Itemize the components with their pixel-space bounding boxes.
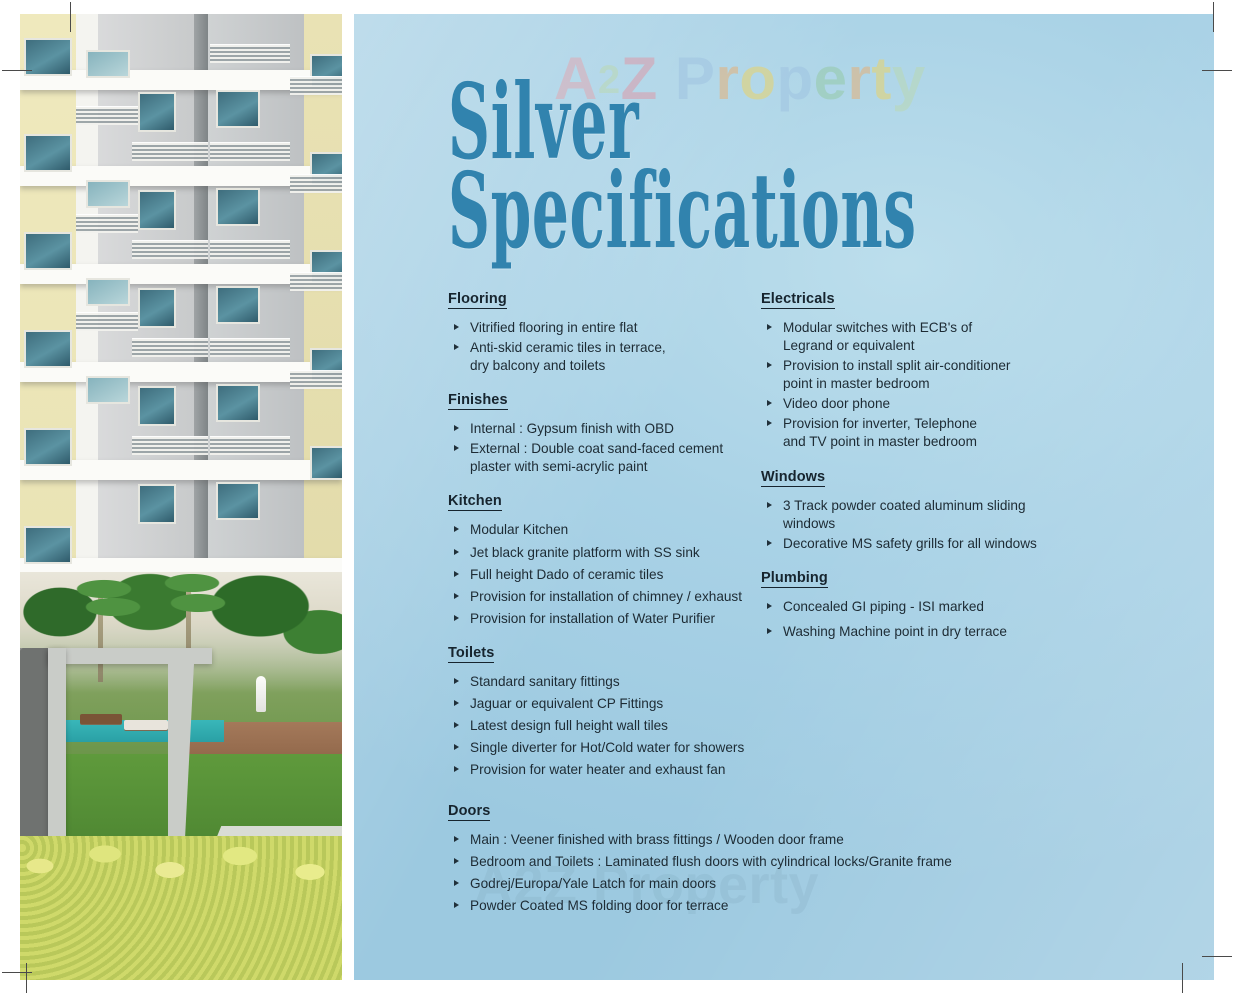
bullet-triangle-icon [767, 603, 772, 609]
spec-item-text: Washing Machine point in dry terrace [783, 624, 1007, 639]
bullet-triangle-icon [454, 324, 459, 330]
spec-item-text: Anti-skid ceramic tiles in terrace,dry b… [470, 340, 666, 373]
spec-item-text: Provision for installation of Water Puri… [470, 611, 715, 626]
spec-item-text: Latest design full height wall tiles [470, 718, 668, 733]
bullet-triangle-icon [454, 425, 459, 431]
spec-list: Vitrified flooring in entire flatAnti-sk… [448, 319, 778, 375]
spec-list-item: Provision for installation of chimney / … [448, 588, 778, 606]
bullet-triangle-icon [454, 549, 459, 555]
spec-list-item: Modular Kitchen [448, 521, 778, 539]
crop-mark-top-right-v [1213, 2, 1214, 32]
spec-item-text: Concealed GI piping - ISI marked [783, 599, 984, 614]
spec-list-item: Godrej/Europa/Yale Latch for main doors [448, 875, 1168, 893]
bullet-triangle-icon [454, 700, 459, 706]
spec-item-text: Jaguar or equivalent CP Fittings [470, 696, 663, 711]
spec-list-item: Powder Coated MS folding door for terrac… [448, 897, 1168, 915]
spec-item-text: Powder Coated MS folding door for terrac… [470, 898, 728, 913]
spec-item-text: Vitrified flooring in entire flat [470, 320, 638, 335]
spec-list-item: Jet black granite platform with SS sink [448, 544, 778, 562]
spec-list-item: Standard sanitary fittings [448, 673, 778, 691]
bullet-triangle-icon [454, 615, 459, 621]
section-heading: Doors [448, 803, 490, 821]
spec-list: Concealed GI piping - ISI markedWashing … [761, 598, 1121, 641]
spec-list: Standard sanitary fittingsJaguar or equi… [448, 673, 778, 779]
bullet-triangle-icon [767, 540, 772, 546]
right-column: ElectricalsModular switches with ECB's o… [761, 290, 1121, 657]
bullet-triangle-icon [767, 502, 772, 508]
spec-item-text: Video door phone [783, 396, 890, 411]
bullet-triangle-icon [767, 420, 772, 426]
spec-item-text: Main : Veener finished with brass fittin… [470, 832, 844, 847]
spec-item-text: Decorative MS safety grills for all wind… [783, 536, 1037, 551]
spec-item-text: Provision to install split air-condition… [783, 358, 1010, 391]
spec-list-item: Main : Veener finished with brass fittin… [448, 831, 1168, 849]
crop-mark-bottom-left-h [2, 972, 32, 973]
spec-list: Internal : Gypsum finish with OBDExterna… [448, 420, 778, 476]
section-heading: Kitchen [448, 493, 502, 511]
bullet-triangle-icon [454, 880, 459, 886]
spec-list-item: Single diverter for Hot/Cold water for s… [448, 739, 778, 757]
bullet-triangle-icon [454, 571, 459, 577]
spec-section: PlumbingConcealed GI piping - ISI marked… [761, 569, 1121, 641]
spec-item-text: Jet black granite platform with SS sink [470, 545, 700, 560]
bullet-triangle-icon [767, 628, 772, 634]
spec-list: Modular switches with ECB's ofLegrand or… [761, 319, 1121, 452]
spec-list: Modular KitchenJet black granite platfor… [448, 521, 778, 627]
spec-section: Windows3 Track powder coated aluminum sl… [761, 468, 1121, 553]
spec-list-item: Modular switches with ECB's ofLegrand or… [761, 319, 1121, 355]
spec-item-text: Bedroom and Toilets : Laminated flush do… [470, 854, 952, 869]
section-heading: Flooring [448, 291, 507, 309]
bullet-triangle-icon [454, 344, 459, 350]
spec-item-text: Provision for water heater and exhaust f… [470, 762, 725, 777]
full-width-column: DoorsMain : Veener finished with brass f… [448, 802, 1168, 931]
spec-list-item: External : Double coat sand-faced cement… [448, 440, 778, 476]
spec-item-text: Full height Dado of ceramic tiles [470, 567, 663, 582]
spec-item-text: Modular Kitchen [470, 522, 568, 537]
crop-mark-bottom-left-v [26, 963, 27, 993]
spec-item-text: Provision for inverter, Telephoneand TV … [783, 416, 977, 449]
crop-mark-top-left-h [2, 70, 32, 71]
bullet-triangle-icon [454, 722, 459, 728]
spec-list-item: Bedroom and Toilets : Laminated flush do… [448, 853, 1168, 871]
project-photograph [20, 14, 342, 980]
specifications-panel: A2Z Property A2Z Property Silver Specifi… [354, 14, 1214, 980]
section-heading: Toilets [448, 645, 494, 663]
bullet-triangle-icon [454, 678, 459, 684]
left-column: FlooringVitrified flooring in entire fla… [448, 290, 778, 795]
section-heading: Plumbing [761, 570, 828, 588]
spec-list-item: Jaguar or equivalent CP Fittings [448, 695, 778, 713]
spec-item-text: External : Double coat sand-faced cement… [470, 441, 723, 474]
title-line-2: Specifications [448, 169, 917, 252]
spec-item-text: Single diverter for Hot/Cold water for s… [470, 740, 744, 755]
spec-list-item: Internal : Gypsum finish with OBD [448, 420, 778, 438]
crop-mark-bottom-right-h [1202, 956, 1232, 957]
crop-mark-top-right-h [1202, 70, 1232, 71]
spec-list-item: Full height Dado of ceramic tiles [448, 566, 778, 584]
spec-item-text: Internal : Gypsum finish with OBD [470, 421, 674, 436]
spec-section: ElectricalsModular switches with ECB's o… [761, 290, 1121, 452]
spec-list-item: Vitrified flooring in entire flat [448, 319, 778, 337]
spec-list-item: Provision to install split air-condition… [761, 357, 1121, 393]
spec-section: ToiletsStandard sanitary fittingsJaguar … [448, 644, 778, 779]
bullet-triangle-icon [454, 445, 459, 451]
spec-list-item: Washing Machine point in dry terrace [761, 623, 1121, 641]
bullet-triangle-icon [767, 362, 772, 368]
spec-section: FlooringVitrified flooring in entire fla… [448, 290, 778, 375]
spec-list-item: Provision for water heater and exhaust f… [448, 761, 778, 779]
spec-list-item: Provision for installation of Water Puri… [448, 610, 778, 628]
spec-list-item: Latest design full height wall tiles [448, 717, 778, 735]
section-heading: Electricals [761, 291, 835, 309]
spec-item-text: 3 Track powder coated aluminum slidingwi… [783, 498, 1026, 531]
spec-item-text: Godrej/Europa/Yale Latch for main doors [470, 876, 716, 891]
garden-landscape-image [20, 572, 342, 980]
section-heading: Windows [761, 469, 825, 487]
bullet-triangle-icon [454, 526, 459, 532]
spec-list-item: Video door phone [761, 395, 1121, 413]
spec-section: FinishesInternal : Gypsum finish with OB… [448, 391, 778, 476]
bullet-triangle-icon [454, 744, 459, 750]
crop-mark-bottom-right-v [1182, 963, 1183, 993]
crop-mark-top-left-v [70, 2, 71, 32]
spec-list-item: Anti-skid ceramic tiles in terrace,dry b… [448, 339, 778, 375]
bullet-triangle-icon [454, 836, 459, 842]
spec-list-item: 3 Track powder coated aluminum slidingwi… [761, 497, 1121, 533]
spec-list: Main : Veener finished with brass fittin… [448, 831, 1168, 915]
spec-section: KitchenModular KitchenJet black granite … [448, 492, 778, 627]
bullet-triangle-icon [454, 766, 459, 772]
bullet-triangle-icon [454, 858, 459, 864]
spec-item-text: Modular switches with ECB's ofLegrand or… [783, 320, 972, 353]
spec-list-item: Provision for inverter, Telephoneand TV … [761, 415, 1121, 451]
page-title: Silver Specifications [448, 80, 1214, 252]
bullet-triangle-icon [454, 593, 459, 599]
spec-item-text: Standard sanitary fittings [470, 674, 620, 689]
spec-list-item: Decorative MS safety grills for all wind… [761, 535, 1121, 553]
spec-list-item: Concealed GI piping - ISI marked [761, 598, 1121, 616]
spec-section: DoorsMain : Veener finished with brass f… [448, 802, 1168, 915]
spec-item-text: Provision for installation of chimney / … [470, 589, 742, 604]
bullet-triangle-icon [767, 324, 772, 330]
spec-list: 3 Track powder coated aluminum slidingwi… [761, 497, 1121, 553]
bullet-triangle-icon [454, 902, 459, 908]
bullet-triangle-icon [767, 400, 772, 406]
section-heading: Finishes [448, 392, 508, 410]
